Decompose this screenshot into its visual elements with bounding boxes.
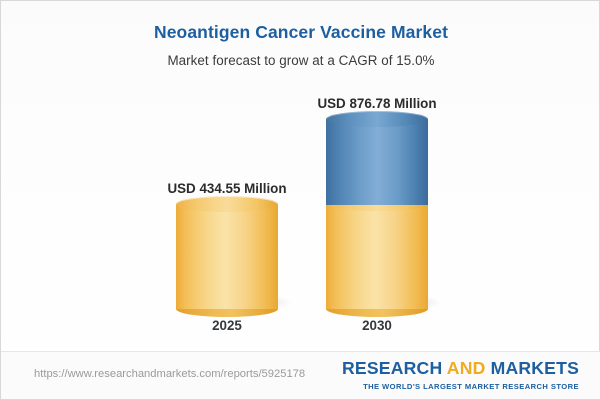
- cylinder-body: [326, 119, 428, 205]
- bar-group-2025[interactable]: USD 434.55 Million 2025: [176, 1, 278, 346]
- chart-plot-area: USD 434.55 Million 2025 USD 876.78 Milli…: [1, 1, 600, 346]
- bar-segment-2025-base: [176, 204, 278, 309]
- value-label-2025: USD 434.55 Million: [97, 181, 357, 196]
- logo-tagline: THE WORLD'S LARGEST MARKET RESEARCH STOR…: [342, 382, 579, 391]
- brand-logo[interactable]: RESEARCH AND MARKETS THE WORLD'S LARGEST…: [342, 360, 579, 391]
- logo-word-markets: MARKETS: [491, 358, 579, 378]
- logo-wordmark: RESEARCH AND MARKETS: [342, 360, 579, 378]
- bar-segment-2030-base: [326, 204, 428, 309]
- chart-card: Neoantigen Cancer Vaccine Market Market …: [0, 0, 600, 400]
- footer: https://www.researchandmarkets.com/repor…: [1, 351, 600, 399]
- bar-segment-2030-growth: [326, 119, 428, 205]
- bar-cylinder-2030: [326, 119, 428, 309]
- cylinder-top-ellipse: [176, 196, 278, 212]
- logo-word-and: AND: [447, 358, 486, 378]
- cylinder-body: [326, 204, 428, 309]
- bar-cylinder-2025: [176, 204, 278, 309]
- source-url[interactable]: https://www.researchandmarkets.com/repor…: [34, 368, 305, 380]
- cylinder-body: [176, 204, 278, 309]
- logo-word-research: RESEARCH: [342, 358, 442, 378]
- cylinder-top-ellipse: [326, 111, 428, 127]
- value-label-2030: USD 876.78 Million: [247, 96, 507, 111]
- bar-group-2030[interactable]: USD 876.78 Million 2030: [326, 1, 428, 346]
- category-label-2030: 2030: [247, 318, 507, 333]
